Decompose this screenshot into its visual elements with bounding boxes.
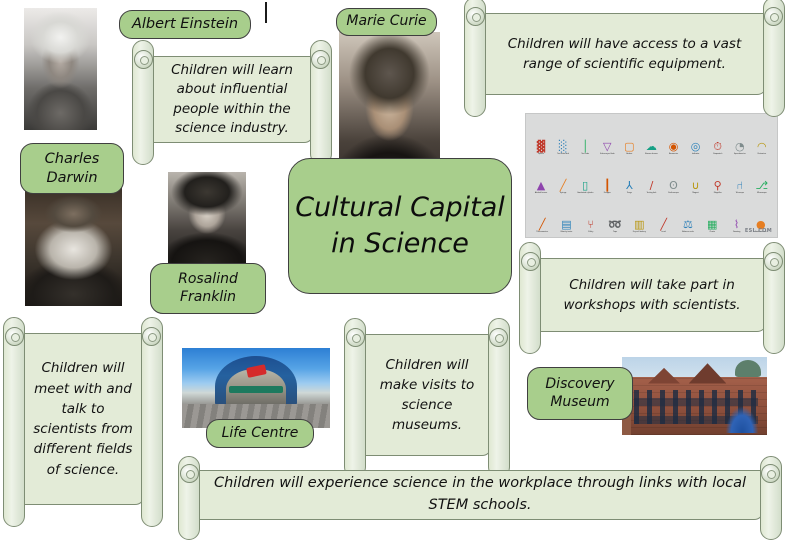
equipment-item: ▦Charts bbox=[702, 217, 722, 233]
equipment-item: ⎇Microscope bbox=[752, 178, 772, 194]
equipment-label: Pipette bbox=[538, 153, 544, 155]
scroll-curl-top-right bbox=[764, 252, 783, 271]
equipment-label: Magnifier bbox=[714, 192, 722, 194]
equipment-label: Test tube bbox=[581, 153, 589, 155]
equipment-label: Dropper bbox=[604, 192, 611, 194]
equipment-item: ⑂Pulley bbox=[581, 217, 601, 233]
scroll-curl-top-left bbox=[346, 328, 365, 347]
equipment-label: Tape bbox=[613, 231, 617, 233]
scroll-meet-scientists: Children will meet with and talk to scie… bbox=[3, 325, 163, 515]
equipment-label: Indicator bbox=[692, 153, 699, 155]
scroll-curl-top-left bbox=[466, 7, 485, 26]
equipment-icon: ∪ bbox=[692, 178, 700, 191]
equipment-icon: ░ bbox=[559, 139, 567, 152]
equipment-label: Beaker bbox=[626, 153, 632, 155]
scroll-curl-top-left bbox=[5, 327, 24, 346]
equipment-icon: ⌇ bbox=[734, 217, 739, 230]
equipment-icon: ▯ bbox=[582, 178, 588, 191]
equipment-icon: ➿ bbox=[608, 217, 622, 230]
equipment-item: ▯Graduated cylinder bbox=[575, 178, 595, 194]
equipment-label: Barometer bbox=[669, 153, 678, 155]
equipment-icon: ⑁ bbox=[736, 178, 743, 191]
equipment-label: Stethoscope bbox=[668, 192, 679, 194]
equipment-item: ◔Speedometer bbox=[730, 139, 750, 155]
scroll-workshops: Children will take part in workshops wit… bbox=[519, 250, 785, 342]
equipment-item: ⚲Magnifier bbox=[708, 178, 728, 194]
scroll-curl-top-left bbox=[180, 464, 199, 483]
equipment-label: Tongs bbox=[627, 192, 632, 194]
equipment-icon: ▓ bbox=[537, 139, 545, 152]
equipment-label: Graduated cylinder bbox=[577, 192, 593, 194]
equipment-icon: │ bbox=[582, 139, 589, 152]
equipment-item: ➿Tape bbox=[605, 217, 625, 233]
equipment-icon: ⏱ bbox=[713, 139, 722, 152]
photo-charles-darwin bbox=[25, 188, 122, 306]
equipment-icon: ☁ bbox=[646, 139, 657, 152]
equipment-label: Dowsing bbox=[733, 231, 740, 233]
equipment-icon: ⑂ bbox=[587, 217, 594, 230]
equipment-label: Pulley bbox=[588, 231, 593, 233]
equipment-item: ▓Pipette bbox=[531, 139, 551, 155]
equipment-label: Alcohol burner bbox=[535, 192, 547, 194]
scientist-name: Marie Curie bbox=[346, 13, 426, 31]
equipment-item: ╱Thermometer bbox=[532, 217, 552, 233]
scroll-influential-people: Children will learn about influential pe… bbox=[132, 48, 332, 153]
scroll-curl-top-left bbox=[521, 252, 540, 271]
equipment-icon: ⚲ bbox=[714, 178, 722, 191]
equipment-item: ⅄Tongs bbox=[620, 178, 640, 194]
equipment-icon: ⎇ bbox=[755, 178, 768, 191]
scroll-curl-top-right bbox=[764, 7, 783, 26]
page-title: Cultural Capital in Science bbox=[288, 158, 512, 294]
photo-albert-einstein bbox=[24, 8, 97, 130]
equipment-label: Balance scale bbox=[682, 231, 694, 233]
equipment-label: Magnet bbox=[692, 192, 699, 194]
scroll-curl-top-left bbox=[134, 50, 153, 69]
equipment-item: ▲Alcohol burner bbox=[531, 178, 551, 194]
photo-life-centre bbox=[182, 348, 330, 428]
equipment-row: ▓Pipette░Test tube rack│Test tube▽Erlenm… bbox=[530, 120, 773, 155]
life-centre-sign bbox=[229, 386, 282, 392]
equipment-icon: ʘ bbox=[669, 178, 678, 191]
scroll-workplace-stem: Children will experience science in the … bbox=[178, 462, 782, 530]
equipment-icon: ◎ bbox=[691, 139, 701, 152]
statement-text: Children will make visits to science mus… bbox=[362, 334, 492, 456]
scroll-museum-visits: Children will make visits to science mus… bbox=[344, 326, 510, 466]
equipment-row: ▲Alcohol burner╱Syringe▯Graduated cylind… bbox=[530, 159, 773, 194]
equipment-icon: ╱ bbox=[560, 178, 567, 191]
equipment-icon: ┃ bbox=[604, 178, 611, 191]
label-albert-einstein: Albert Einstein bbox=[119, 10, 251, 39]
equipment-item: ┃Dropper bbox=[597, 178, 617, 194]
equipment-item: ◉Barometer bbox=[664, 139, 684, 155]
equipment-label: Speedometer bbox=[734, 153, 746, 155]
equipment-label: Microscope bbox=[757, 192, 767, 194]
equipment-item: │Test tube bbox=[575, 139, 595, 155]
equipment-icon: ╱ bbox=[660, 217, 667, 230]
equipment-label: Polarity tester bbox=[561, 231, 573, 233]
equipment-icon: ◔ bbox=[735, 139, 745, 152]
label-marie-curie: Marie Curie bbox=[336, 8, 437, 36]
statement-text: Children will take part in workshops wit… bbox=[537, 258, 767, 332]
cultural-capital-poster: Albert Einstein Marie Curie Children wil… bbox=[0, 0, 789, 545]
equipment-icon: ◉ bbox=[669, 139, 679, 152]
equipment-icon: ▢ bbox=[624, 139, 634, 152]
equipment-icon: ╱ bbox=[539, 217, 546, 230]
photo-rosalind-franklin bbox=[168, 172, 246, 272]
equipment-label: Protractor bbox=[758, 153, 766, 155]
equipment-label: Thermometer bbox=[536, 231, 548, 233]
equipment-label: Syringe bbox=[560, 192, 566, 194]
scroll-roll-right bbox=[141, 317, 163, 527]
equipment-item: ╱Level bbox=[654, 217, 674, 233]
equipment-item: ▤Polarity tester bbox=[557, 217, 577, 233]
statement-text: Children will learn about influential pe… bbox=[150, 56, 314, 143]
label-discovery-museum: Discovery Museum bbox=[527, 367, 633, 420]
equipment-icon: ⚖ bbox=[683, 217, 693, 230]
museum-roof-gable-right bbox=[689, 363, 727, 383]
equipment-item: ▢Beaker bbox=[620, 139, 640, 155]
equipment-icon: ⅄ bbox=[626, 178, 633, 191]
scientist-name: Albert Einstein bbox=[132, 15, 238, 33]
equipment-icon: ▥ bbox=[634, 217, 644, 230]
label-life-centre: Life Centre bbox=[206, 419, 314, 448]
equipment-item: ◠Protractor bbox=[752, 139, 772, 155]
scroll-curl-top-right bbox=[142, 327, 161, 346]
scroll-curl-top-right bbox=[761, 464, 780, 483]
equipment-item: ⏱Stopwatch bbox=[708, 139, 728, 155]
equipment-label: Charts bbox=[709, 231, 715, 233]
equipment-icon: ▤ bbox=[561, 217, 571, 230]
equipment-item: ∕Testing fork bbox=[642, 178, 662, 194]
label-charles-darwin: Charles Darwin bbox=[20, 143, 124, 194]
equipment-label: Testing fork bbox=[647, 192, 657, 194]
equipment-item: ʘStethoscope bbox=[664, 178, 684, 194]
equipment-item: ⚖Balance scale bbox=[678, 217, 698, 233]
equipment-label: Erlenmeyer flask bbox=[600, 153, 614, 155]
equipment-item: ▥Dry-cell battery bbox=[630, 217, 650, 233]
equipment-item: ▽Erlenmeyer flask bbox=[597, 139, 617, 155]
science-equipment-chart: ▓Pipette░Test tube rack│Test tube▽Erlenm… bbox=[525, 113, 778, 238]
scroll-curl-top-right bbox=[311, 50, 330, 69]
equipment-item: ⌇Dowsing bbox=[727, 217, 747, 233]
equipment-icon: ∕ bbox=[650, 178, 654, 191]
equipment-icon: ▽ bbox=[603, 139, 611, 152]
statement-text: Children will have access to a vast rang… bbox=[482, 13, 767, 95]
equipment-item: ◎Indicator bbox=[686, 139, 706, 155]
equipment-label: Test tube rack bbox=[557, 153, 569, 155]
equipment-label: Telescope bbox=[736, 192, 744, 194]
equipment-icon: ▲ bbox=[537, 178, 545, 191]
chart-watermark: ESL.COM bbox=[745, 228, 772, 234]
life-centre-arch bbox=[215, 356, 298, 406]
statement-text: Children will experience science in the … bbox=[196, 470, 764, 520]
equipment-item: ∪Magnet bbox=[686, 178, 706, 194]
equipment-icon: ◠ bbox=[757, 139, 767, 152]
equipment-row: ╱Thermometer▤Polarity tester⑂Pulley➿Tape… bbox=[530, 198, 773, 233]
museum-roof-gable-left bbox=[648, 368, 680, 384]
scientist-name: Charles Darwin bbox=[28, 150, 116, 186]
statement-text: Children will meet with and talk to scie… bbox=[21, 333, 145, 505]
scroll-roll-left bbox=[3, 317, 25, 527]
venue-name: Life Centre bbox=[222, 425, 299, 443]
scientist-name: Rosalind Franklin bbox=[158, 271, 258, 306]
museum-dome bbox=[735, 360, 761, 377]
scroll-scientific-equipment: Children will have access to a vast rang… bbox=[464, 5, 785, 105]
equipment-item: ☁Bunsen burner bbox=[642, 139, 662, 155]
equipment-item: ░Test tube rack bbox=[553, 139, 573, 155]
scroll-curl-top-right bbox=[489, 328, 508, 347]
label-rosalind-franklin: Rosalind Franklin bbox=[150, 263, 266, 314]
equipment-label: Bunsen burner bbox=[645, 153, 658, 155]
photo-discovery-museum bbox=[622, 357, 767, 435]
equipment-label: Level bbox=[661, 231, 666, 233]
equipment-item: ╱Syringe bbox=[553, 178, 573, 194]
equipment-label: Stopwatch bbox=[713, 153, 722, 155]
page-title-text: Cultural Capital in Science bbox=[289, 190, 511, 261]
equipment-icon: ▦ bbox=[707, 217, 717, 230]
equipment-item: ⑁Telescope bbox=[730, 178, 750, 194]
equipment-label: Dry-cell battery bbox=[633, 231, 646, 233]
text-caret bbox=[265, 2, 267, 23]
venue-name: Discovery Museum bbox=[535, 376, 625, 411]
